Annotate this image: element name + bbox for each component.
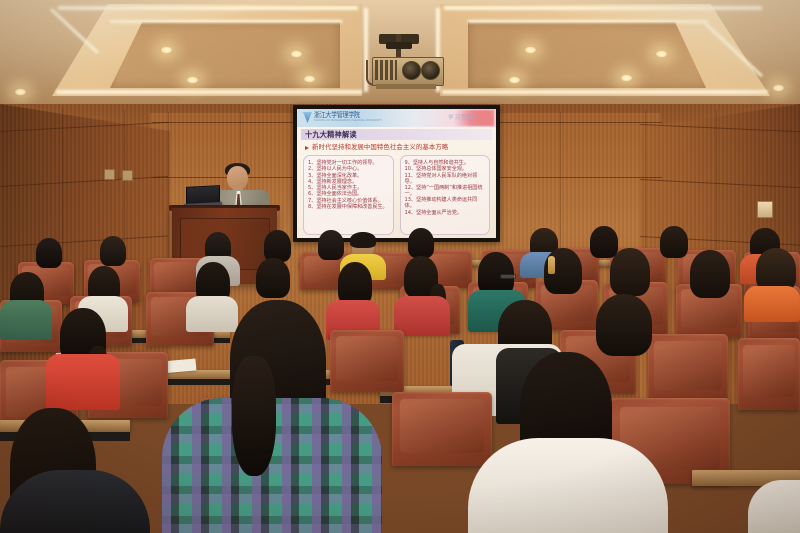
- chair[interactable]: [738, 338, 800, 410]
- chair[interactable]: [330, 330, 404, 392]
- attendee-hair: [660, 226, 688, 258]
- university-logo-icon: [303, 112, 312, 123]
- light-switch-plate[interactable]: [757, 201, 773, 218]
- attendee-hair: [596, 294, 652, 356]
- wall-panel-seam: [560, 112, 561, 252]
- projector-base: [376, 84, 436, 89]
- cove-light-strip: [56, 90, 362, 94]
- projector-keypad: [375, 60, 397, 80]
- cove-light-strip: [442, 90, 768, 94]
- ceiling-coffer-right-inner: [468, 22, 706, 88]
- downlight: [524, 46, 537, 54]
- wall-outlet[interactable]: [122, 170, 133, 181]
- slide-column-right: 9、坚持人与自然和谐共生。10、坚持总体国家安全观。11、坚持党对人民军队的绝对…: [400, 155, 491, 235]
- slide-bullet-right: 12、坚持“一国两制”和推进祖国统一。: [405, 185, 487, 197]
- slide-bullet-left: 8、坚持在发展中保障和改善民生。: [308, 204, 390, 210]
- attendee-torso: [186, 296, 238, 332]
- downlight: [290, 50, 303, 58]
- attendee-torso: [468, 438, 668, 533]
- attendee-torso: [46, 354, 120, 410]
- attendee-hair: [350, 232, 376, 248]
- slide-header-art-text: 学习贯彻: [448, 113, 474, 121]
- wall-panel-seam: [62, 108, 63, 278]
- downlight: [160, 46, 173, 54]
- projection-screen: 浙江大学管理学院 SCHOOL OF MANAGEMENT ZHEJIANG U…: [293, 105, 500, 242]
- downlight: [186, 76, 199, 84]
- attendee-hair: [610, 248, 650, 296]
- slide-bullet-left: 2、坚持以人民为中心。: [308, 166, 390, 172]
- slide-title: 十九大精神解读: [305, 131, 357, 139]
- slide-surface: 浙江大学管理学院 SCHOOL OF MANAGEMENT ZHEJIANG U…: [297, 109, 496, 238]
- attendee-hair: [256, 258, 290, 298]
- projector-lens: [402, 61, 421, 80]
- attendee-torso: [394, 296, 450, 336]
- cove-light-strip: [110, 20, 342, 23]
- slide-logo: 浙江大学管理学院 SCHOOL OF MANAGEMENT ZHEJIANG U…: [303, 112, 382, 123]
- wall-panel-seam: [716, 110, 717, 270]
- downlight: [655, 50, 668, 58]
- slide-subtitle: 新时代坚持和发展中国特色社会主义的基本方略: [312, 144, 448, 151]
- slide-subtitle-row: 新时代坚持和发展中国特色社会主义的基本方略: [305, 144, 448, 151]
- slide-bullet-right: 10、坚持总体国家安全观。: [405, 166, 487, 172]
- attendee-hair: [100, 236, 126, 266]
- lecture-hall-photo: 浙江大学管理学院 SCHOOL OF MANAGEMENT ZHEJIANG U…: [0, 0, 800, 533]
- attendee-hair: [590, 226, 618, 258]
- slide-logo-text: 浙江大学管理学院: [314, 113, 382, 120]
- projector-vent: [421, 61, 440, 80]
- cove-light-strip: [444, 6, 762, 10]
- cove-light-strip: [468, 20, 708, 23]
- attendee-hair-strand: [232, 356, 276, 476]
- slide-column-left: 1、坚持党对一切工作的领导。2、坚持以人民为中心。3、坚持全面深化改革。4、坚持…: [303, 155, 394, 235]
- attendee-hair: [690, 250, 730, 298]
- slide-bullet-left: 7、坚持社会主义核心价值体系。: [308, 198, 390, 204]
- attendee-hair: [264, 230, 291, 262]
- slide-bullet-left: 6、坚持全面依法治国。: [308, 191, 390, 197]
- attendee-hair: [408, 228, 434, 258]
- downlight: [772, 84, 785, 92]
- attendee-torso: [744, 286, 800, 322]
- attendee-sleeve: [748, 480, 800, 533]
- chair[interactable]: [392, 392, 492, 466]
- slide-logo-subtext: SCHOOL OF MANAGEMENT ZHEJIANG UNIVERSITY: [314, 119, 382, 122]
- downlight: [14, 88, 27, 96]
- wall-outlet[interactable]: [104, 169, 115, 180]
- slide-bullet-right: 13、坚持推动构建人类命运共同体。: [405, 197, 487, 209]
- attendee-hair: [318, 230, 344, 260]
- attendee-glasses: [500, 274, 516, 279]
- arrow-bullet-icon: [305, 146, 309, 150]
- wall-panel-seam: [645, 110, 646, 270]
- attendee-torso: [0, 300, 52, 340]
- downlight: [620, 74, 633, 82]
- wall-panel-seam: [168, 112, 169, 282]
- slide-columns: 1、坚持党对一切工作的领导。2、坚持以人民为中心。3、坚持全面深化改革。4、坚持…: [303, 155, 490, 235]
- chair[interactable]: [648, 334, 728, 402]
- projector-mount-bracket: [386, 42, 412, 49]
- cove-light-strip: [58, 6, 358, 10]
- attendee-hair: [36, 238, 62, 268]
- downlight: [303, 75, 316, 83]
- water-bottle[interactable]: [548, 256, 555, 274]
- slide-bullet-left: 3、坚持全面深化改革。: [308, 173, 390, 179]
- slide-bullet-right: 11、坚持党对人民军队的绝对领导。: [405, 173, 487, 185]
- slide-bullet-right: 14、坚持全面从严治党。: [405, 210, 487, 216]
- slide-title-band: 十九大精神解读: [301, 129, 492, 140]
- downlight: [508, 76, 521, 84]
- slide-header-band: 浙江大学管理学院 SCHOOL OF MANAGEMENT ZHEJIANG U…: [297, 109, 496, 127]
